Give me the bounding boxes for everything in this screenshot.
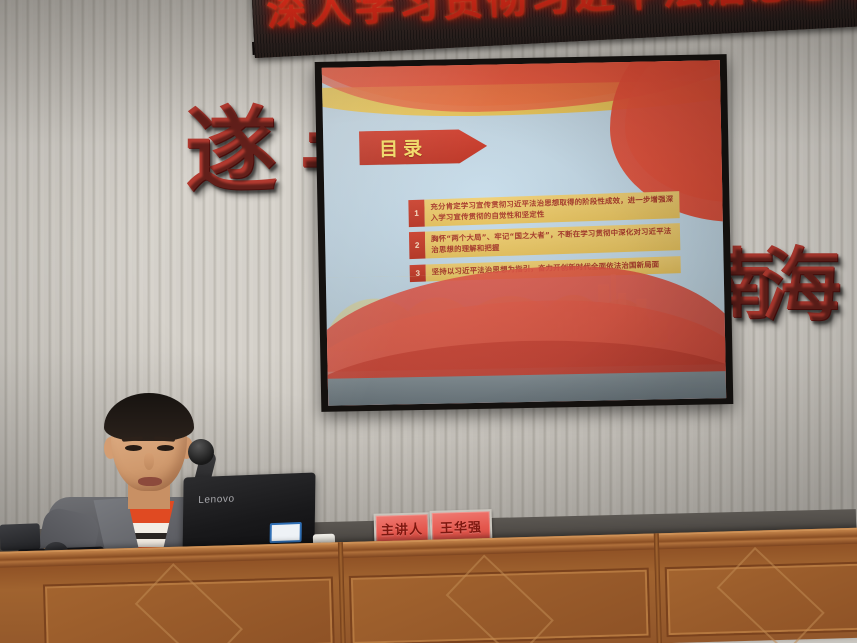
name-plate-role-text: 主讲人	[381, 518, 424, 538]
presentation-room-scene: 遂 书 南 海 目录 1 充分肯定学习宣传贯彻习近平法治思想取得的阶段性成效，进…	[0, 0, 857, 643]
slide-ribbon-yellow	[322, 79, 726, 119]
slide-ribbon-2	[322, 60, 726, 116]
slide-ribbon-1	[322, 60, 726, 109]
presenter-eye-right	[157, 445, 174, 451]
podium-panel	[43, 576, 335, 643]
presenter-eye-left	[125, 445, 142, 451]
slide-title-banner: 目录	[359, 129, 488, 165]
toc-item: 1 充分肯定学习宣传贯彻习近平法治思想取得的阶段性成效，进一步增强深入学习宣传贯…	[408, 191, 679, 227]
laptop-sticker	[270, 522, 302, 543]
slide-ribbon-side-2	[624, 60, 727, 204]
podium-panel-diamond	[446, 555, 554, 643]
name-plate-name-text: 王华强	[440, 516, 483, 536]
presentation-slide: 目录 1 充分肯定学习宣传贯彻习近平法治思想取得的阶段性成效，进一步增强深入学习…	[322, 60, 726, 406]
toc-item-number: 1	[408, 199, 425, 227]
presenter-nose	[144, 453, 154, 470]
podium-panel	[665, 561, 857, 637]
screen-frame: 目录 1 充分肯定学习宣传贯彻习近平法治思想取得的阶段性成效，进一步增强深入学习…	[315, 54, 734, 412]
toc-item-text: 胸怀“两个大局”、牢记“国之大者”，不断在学习贯彻中深化对习近平法治思想的理解和…	[425, 223, 680, 259]
podium-seam	[654, 533, 662, 643]
slide-title-text: 目录	[379, 134, 428, 162]
toc-item: 2 胸怀“两个大局”、牢记“国之大者”，不断在学习贯彻中深化对习近平法治思想的理…	[409, 223, 680, 259]
toc-item-text: 充分肯定学习宣传贯彻习近平法治思想取得的阶段性成效，进一步增强深入学习宣传贯彻的…	[424, 191, 679, 227]
laptop-brand-logo: Lenovo	[198, 494, 235, 506]
presenter-hair	[104, 393, 194, 441]
slide-ribbon-3	[322, 60, 726, 89]
presenter-mouth	[138, 477, 162, 486]
podium-panel-diamond	[717, 547, 825, 643]
projection-screen: 目录 1 充分肯定学习宣传贯彻习近平法治思想取得的阶段性成效，进一步增强深入学习…	[315, 54, 734, 412]
wall-character-right-2: 海	[762, 246, 842, 326]
wall-character-left-1: 遂	[186, 105, 278, 197]
podium-panel	[349, 568, 651, 643]
toc-item-number: 2	[409, 232, 426, 260]
podium-panel-diamond	[135, 563, 243, 643]
desk-object	[0, 523, 40, 550]
